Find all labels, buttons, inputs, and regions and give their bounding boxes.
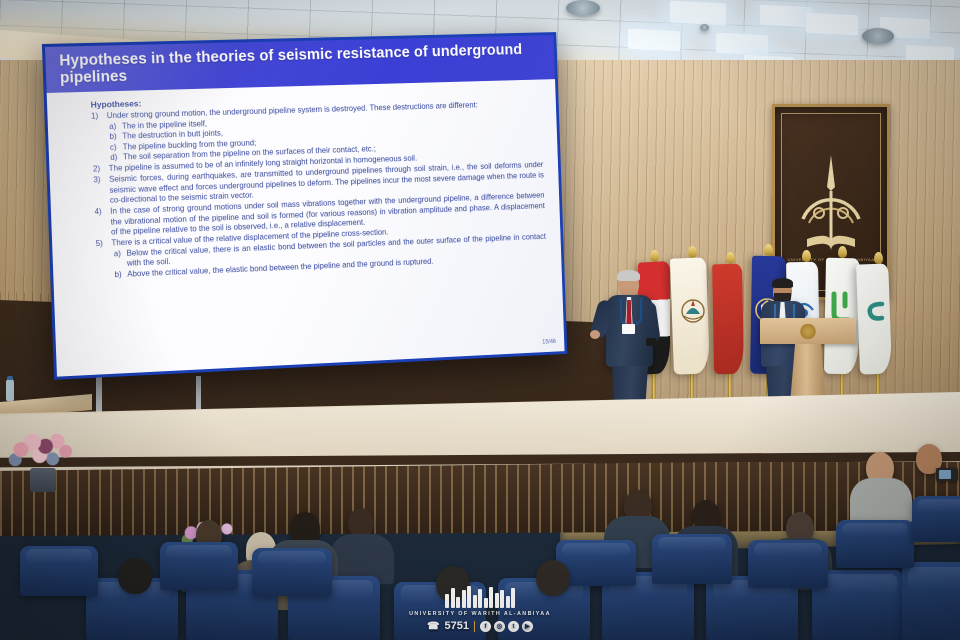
audience-chair[interactable] xyxy=(836,520,914,568)
instagram-icon[interactable]: ◎ xyxy=(494,621,505,632)
sub-marker: a) xyxy=(109,121,122,132)
sub-marker: b) xyxy=(114,270,127,281)
flag-finial-icon xyxy=(802,250,811,262)
facebook-icon[interactable]: f xyxy=(480,621,491,632)
presentation-slide: Hypotheses in the theories of seismic re… xyxy=(45,35,565,377)
audience-chair[interactable] xyxy=(912,496,960,542)
presenter-left-lanyard xyxy=(620,298,642,326)
presenter-left-badge xyxy=(622,324,635,334)
sub-marker: a) xyxy=(114,249,128,270)
watermark: UNIVERSITY OF WARITH AL-ANBIYAA ☎ 5751 f… xyxy=(0,586,960,632)
presenter-podium-hair xyxy=(772,278,793,288)
list-marker: 1) xyxy=(91,111,107,122)
list-marker: 2) xyxy=(93,164,109,175)
university-logo-wordmark-icon xyxy=(445,586,515,608)
flag-finial-icon xyxy=(838,246,847,258)
sub-marker: b) xyxy=(109,132,122,143)
ceiling-panel-light xyxy=(760,5,812,28)
flag-finial-icon xyxy=(874,252,883,264)
red-institutional-flag xyxy=(712,264,744,375)
audience-chair[interactable] xyxy=(748,540,828,588)
water-bottle xyxy=(6,379,14,401)
audience-chair[interactable] xyxy=(160,542,238,590)
teal-flag-logo-icon xyxy=(864,298,888,328)
hvac-diffuser-icon xyxy=(566,0,600,16)
divider xyxy=(474,621,475,632)
ceiling-panel-light xyxy=(716,33,768,56)
smoke-detector-icon xyxy=(700,24,709,31)
flag-finial-icon xyxy=(650,250,659,262)
phone-icon: ☎ xyxy=(427,621,439,632)
stage-fascia-slats xyxy=(0,462,960,536)
water-bottle-cap xyxy=(7,376,13,380)
flag-finial-icon xyxy=(726,252,735,264)
presenter-left-hand xyxy=(590,330,600,339)
presenter-clicker xyxy=(646,338,656,346)
list-marker: 5) xyxy=(96,239,112,250)
conference-hall-photo: UNIVERSITY OF WARITH AL-ANBIYAA Hypothes… xyxy=(0,0,960,640)
podium-emblem-icon xyxy=(800,324,816,339)
list-marker: 3) xyxy=(93,175,110,207)
camera-screen xyxy=(939,470,951,479)
ceiling-panel-light xyxy=(628,29,680,52)
hvac-diffuser-icon xyxy=(862,28,894,44)
slide-title: Hypotheses in the theories of seismic re… xyxy=(45,41,555,87)
slide-page-number: 15/46 xyxy=(542,339,556,347)
screen-frame: Hypotheses in the theories of seismic re… xyxy=(42,32,567,380)
flower-blooms xyxy=(8,432,80,474)
podium-column xyxy=(790,344,826,404)
list-marker: 4) xyxy=(94,207,111,239)
projection-screen[interactable]: Hypotheses in the theories of seismic re… xyxy=(42,32,567,380)
twitter-icon[interactable]: t xyxy=(508,621,519,632)
contact-line: ☎ 5751 f ◎ t ▶ xyxy=(427,620,533,632)
sub-marker: d) xyxy=(110,153,123,164)
flag-finial-icon xyxy=(764,244,773,256)
youtube-icon[interactable]: ▶ xyxy=(522,621,533,632)
university-name: UNIVERSITY OF WARITH AL-ANBIYAA xyxy=(409,611,551,617)
audience-chair[interactable] xyxy=(652,534,732,584)
ceiling-panel-light xyxy=(670,1,726,26)
social-icons[interactable]: f ◎ t ▶ xyxy=(480,621,533,632)
presenter-left-hair xyxy=(617,270,640,281)
flag-finial-icon xyxy=(688,246,697,258)
audience-body xyxy=(850,478,912,524)
ceiling-panel-light xyxy=(806,13,858,36)
ministry-emblem-icon xyxy=(680,296,706,330)
sub-marker: c) xyxy=(110,142,123,153)
phone-number: 5751 xyxy=(444,620,468,632)
flower-arrangement-left xyxy=(8,432,80,492)
slide-body: Hypotheses: 1) Under strong ground motio… xyxy=(47,79,565,377)
podium-top xyxy=(760,318,856,344)
